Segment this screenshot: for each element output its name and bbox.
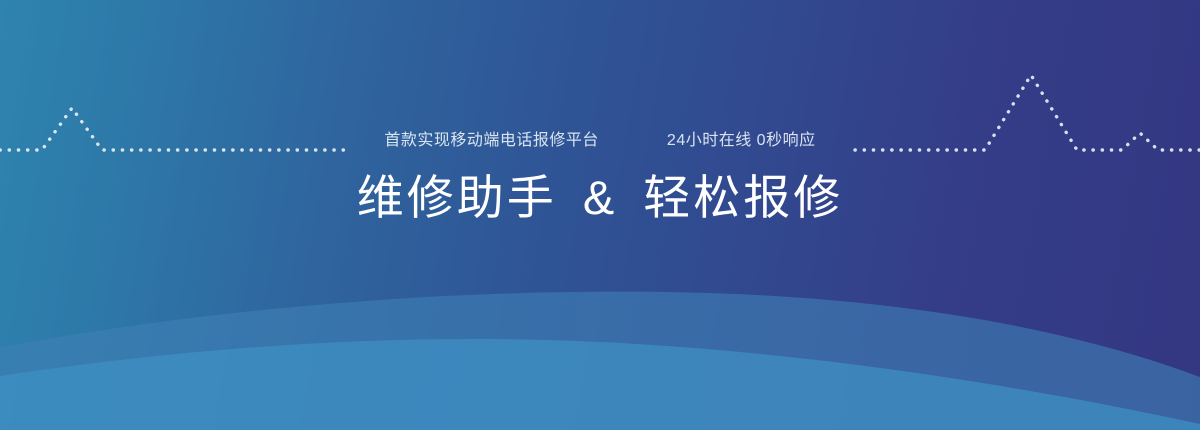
page-title: 维修助手 & 轻松报修	[0, 168, 1200, 228]
subtitle-row: 首款实现移动端电话报修平台 24小时在线 0秒响应	[0, 128, 1200, 154]
title-part-1: 维修助手	[357, 171, 557, 224]
wave-shape-outer	[0, 270, 1200, 430]
subtitle-left: 首款实现移动端电话报修平台	[384, 128, 599, 154]
subtitle-right: 24小时在线 0秒响应	[667, 128, 816, 154]
headline-block: 首款实现移动端电话报修平台 24小时在线 0秒响应 维修助手 & 轻松报修	[0, 128, 1200, 228]
wave-shape-inner	[0, 300, 1200, 430]
promo-banner: 首款实现移动端电话报修平台 24小时在线 0秒响应 维修助手 & 轻松报修	[0, 0, 1200, 430]
title-part-2: 轻松报修	[643, 171, 843, 224]
title-separator: &	[573, 171, 627, 224]
